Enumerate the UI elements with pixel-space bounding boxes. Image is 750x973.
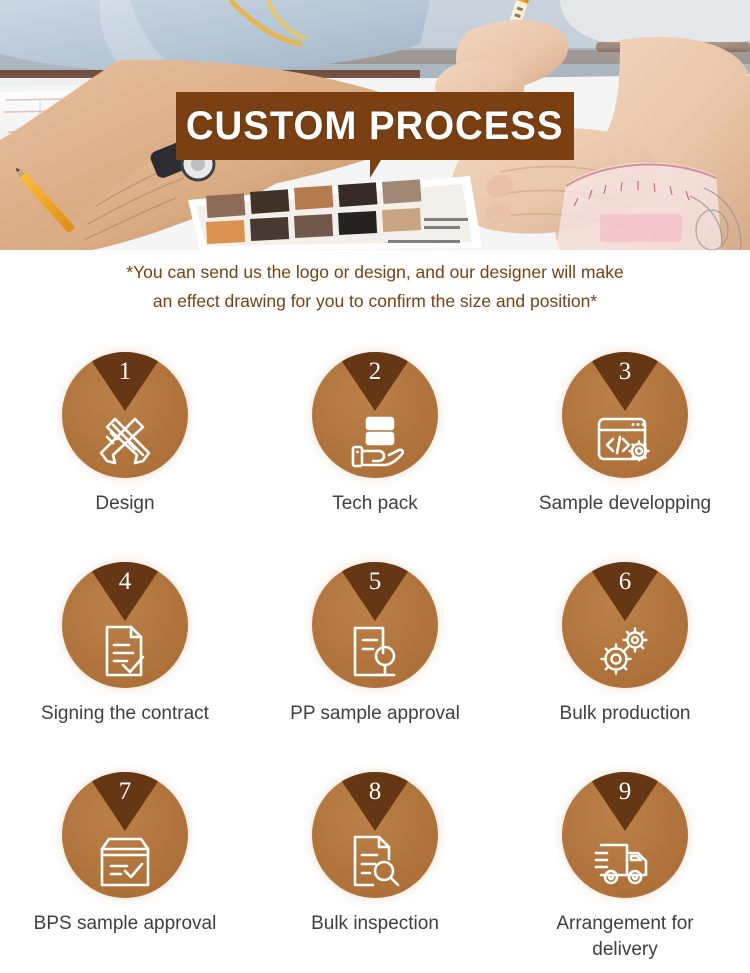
step-label-8: Bulk inspection: [311, 911, 439, 937]
box-check-icon: [93, 833, 157, 891]
step-label-9: Arrangement for delivery: [556, 911, 693, 963]
banner-title-box: CUSTOM PROCESS: [176, 92, 574, 160]
process-step-2[interactable]: 2 Tech pack: [250, 352, 500, 562]
step-number-2: 2: [312, 357, 438, 387]
process-step-row-1: 1 Design 2: [0, 352, 750, 562]
banner-tail: [370, 160, 392, 178]
hand-holding-boxes-icon: [343, 413, 407, 471]
step-number-5: 5: [312, 567, 438, 597]
process-step-3[interactable]: 3: [500, 352, 750, 562]
delivery-truck-icon: [593, 833, 657, 891]
document-search-icon: [343, 833, 407, 891]
step-badge-5: 5: [312, 562, 438, 688]
note-text: *You can send us the logo or design, and…: [0, 258, 750, 316]
step-number-7: 7: [62, 777, 188, 807]
step-number-9: 9: [562, 777, 688, 807]
step-label-4: Signing the contract: [41, 701, 209, 727]
process-step-6[interactable]: 6: [500, 562, 750, 772]
process-step-8[interactable]: 8 Bulk inspection: [250, 772, 500, 973]
step-label-3: Sample developping: [539, 491, 711, 517]
process-step-1[interactable]: 1 Design: [0, 352, 250, 562]
step-label-2: Tech pack: [332, 491, 418, 517]
process-step-9[interactable]: 9 Arrangement f: [500, 772, 750, 973]
step-badge-1: 1: [62, 352, 188, 478]
step-number-4: 4: [62, 567, 188, 597]
custom-process-infographic: CUSTOM PROCESS *You can send us the logo…: [0, 0, 750, 973]
note-line-1: *You can send us the logo or design, and…: [0, 258, 750, 287]
process-step-7[interactable]: 7 BPS sample approval: [0, 772, 250, 973]
step-label-5: PP sample approval: [290, 701, 460, 727]
step-number-3: 3: [562, 357, 688, 387]
step-badge-6: 6: [562, 562, 688, 688]
step-badge-2: 2: [312, 352, 438, 478]
step-number-8: 8: [312, 777, 438, 807]
pencil-ruler-icon: [93, 413, 157, 471]
document-check-icon: [93, 623, 157, 681]
step-label-1: Design: [95, 491, 154, 517]
page-title: CUSTOM PROCESS: [186, 104, 564, 149]
process-step-5[interactable]: 5 PP sample approval: [250, 562, 500, 772]
step-badge-7: 7: [62, 772, 188, 898]
step-number-1: 1: [62, 357, 188, 387]
note-line-2: an effect drawing for you to confirm the…: [0, 287, 750, 316]
process-step-row-2: 4 Signing the contract 5: [0, 562, 750, 772]
certificate-seal-icon: [343, 623, 407, 681]
step-number-6: 6: [562, 567, 688, 597]
step-label-7: BPS sample approval: [34, 911, 217, 937]
step-badge-3: 3: [562, 352, 688, 478]
browser-code-gear-icon: [593, 413, 657, 471]
step-label-6: Bulk production: [560, 701, 691, 727]
gears-icon: [593, 623, 657, 681]
process-step-4[interactable]: 4 Signing the contract: [0, 562, 250, 772]
hero-photo: CUSTOM PROCESS: [0, 0, 750, 250]
process-steps-grid: 1 Design 2: [0, 352, 750, 973]
process-step-row-3: 7 BPS sample approval: [0, 772, 750, 973]
step-badge-4: 4: [62, 562, 188, 688]
step-badge-9: 9: [562, 772, 688, 898]
step-badge-8: 8: [312, 772, 438, 898]
